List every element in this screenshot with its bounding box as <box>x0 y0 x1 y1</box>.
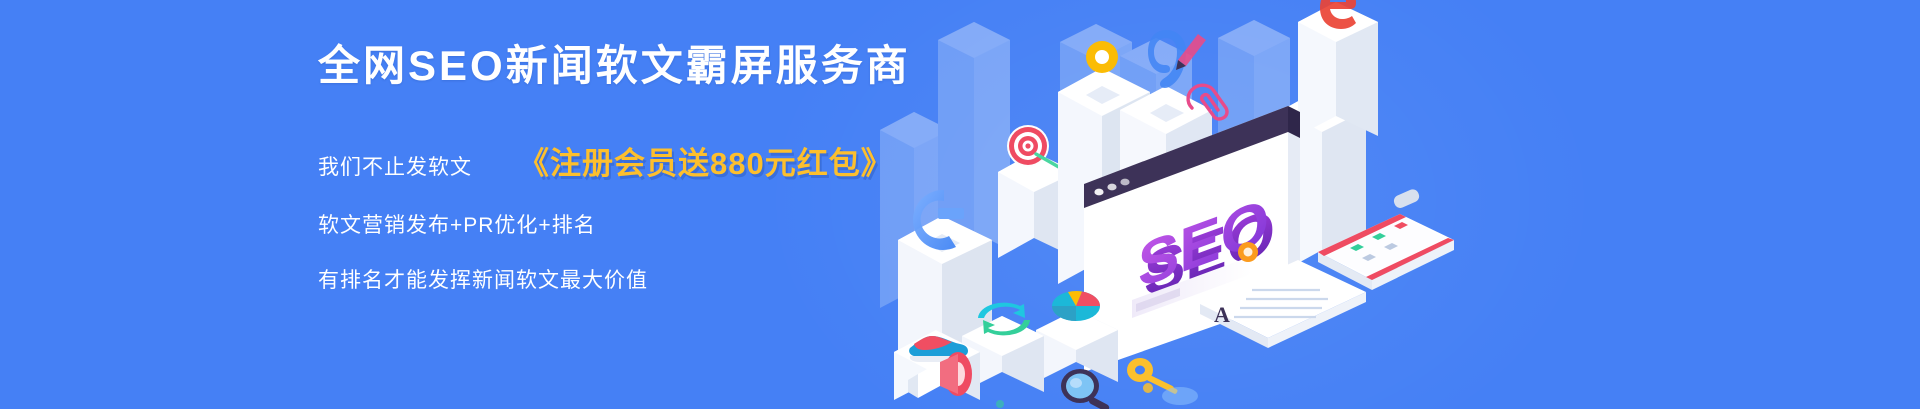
promo-highlight: 《注册会员送880元红包》 <box>518 138 893 183</box>
banner-headline: 全网SEO新闻软文霸屏服务商 <box>318 42 938 90</box>
banner-copy-block: 全网SEO新闻软文霸屏服务商 我们不止发软文 《注册会员送880元红包》 软文营… <box>318 42 938 294</box>
pie-chart-icon <box>1052 291 1100 321</box>
promo-row: 我们不止发软文 《注册会员送880元红包》 <box>318 138 938 183</box>
subheadline-plain: 我们不止发软文 <box>318 155 472 180</box>
magnifier-icon <box>1061 369 1110 409</box>
isometric-seo-illustration: SEO SEO <box>880 0 1500 409</box>
seo-promo-banner: 全网SEO新闻软文霸屏服务商 我们不止发软文 《注册会员送880元红包》 软文营… <box>0 0 1920 409</box>
feature-line-value: 有排名才能发挥新闻软文最大价值 <box>318 268 938 293</box>
document-glyph-a: A <box>1214 302 1230 327</box>
google-o-icon <box>1086 41 1118 73</box>
feature-line-services: 软文营销发布+PR优化+排名 <box>318 213 938 238</box>
